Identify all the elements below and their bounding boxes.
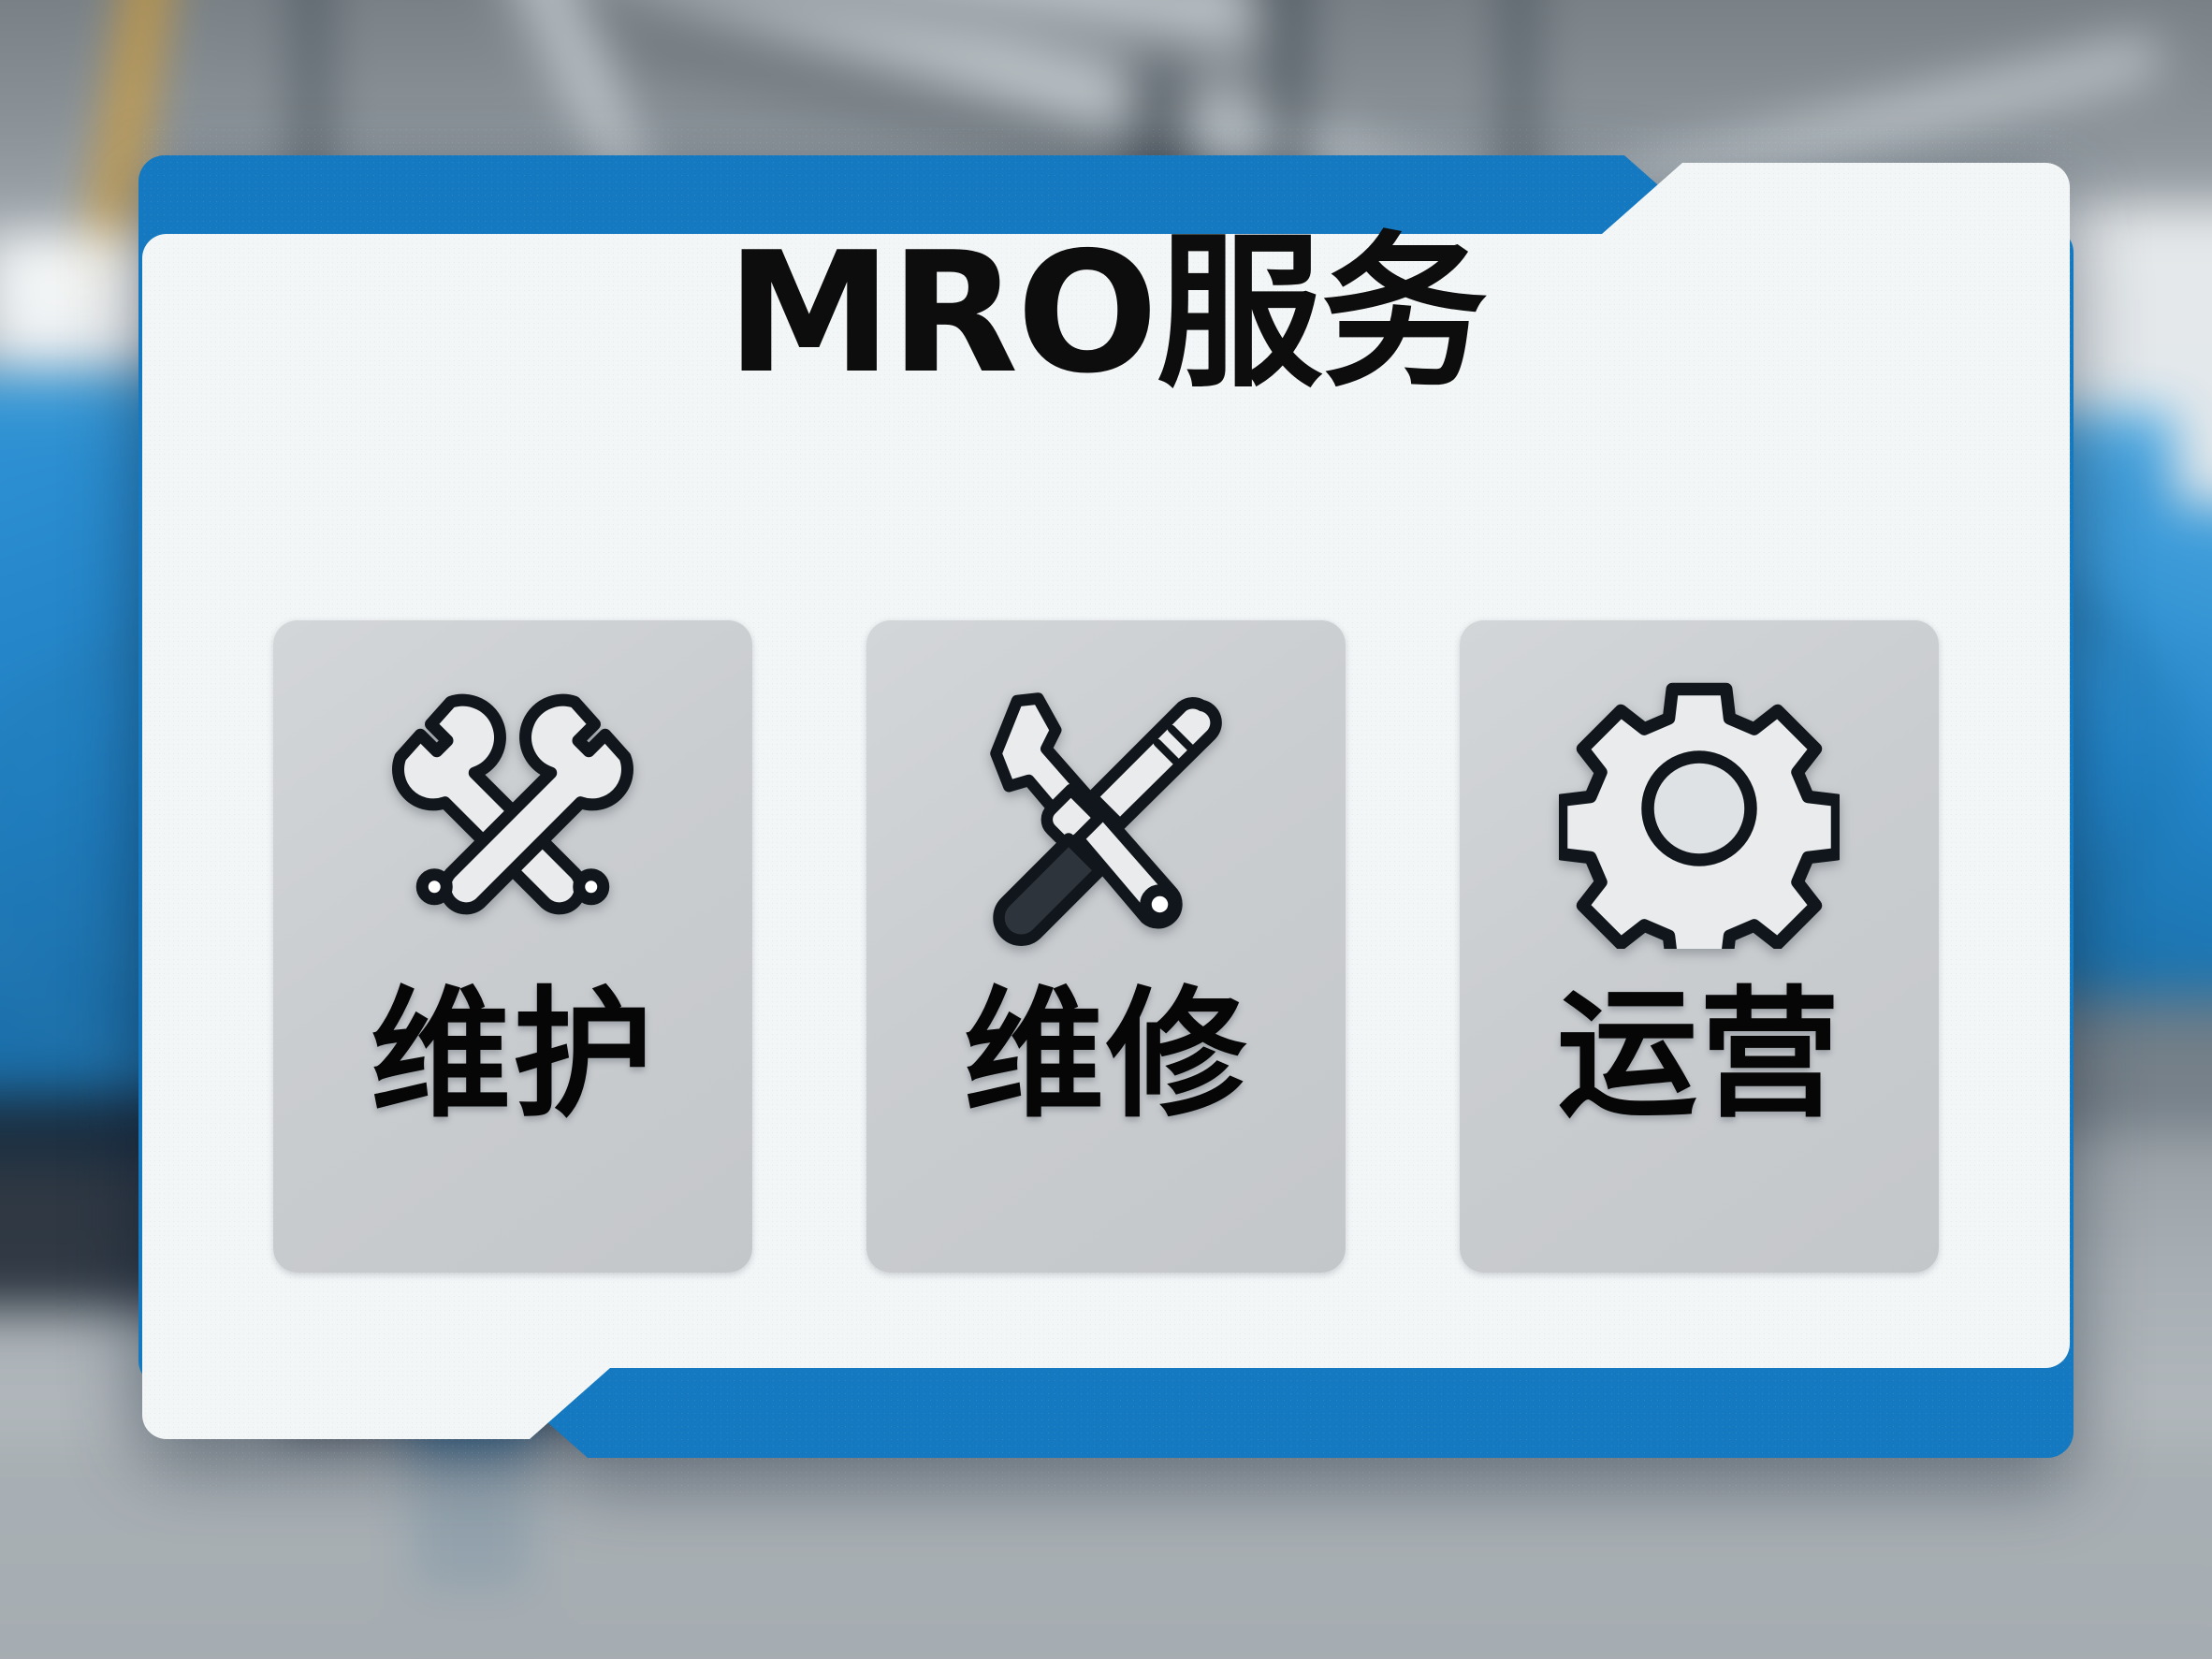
slide-stage: MRO服务 维护 [0,0,2212,1659]
service-card-maintenance[interactable]: 维护 [273,619,752,1273]
screwdriver-wrench-icon [966,668,1246,949]
page-title: MRO服务 [138,230,2074,397]
service-card-row: 维护 [138,619,2074,1274]
service-card-repair[interactable]: 维修 [866,619,1346,1273]
crossed-wrenches-icon [372,668,653,949]
service-card-label: 维护 [371,982,655,1130]
service-card-label: 运营 [1557,982,1841,1130]
service-card-operations[interactable]: 运营 [1460,619,1939,1273]
service-card-label: 维修 [964,982,1248,1130]
gear-icon [1559,668,1840,949]
panel-content: MRO服务 维护 [138,129,2074,1495]
